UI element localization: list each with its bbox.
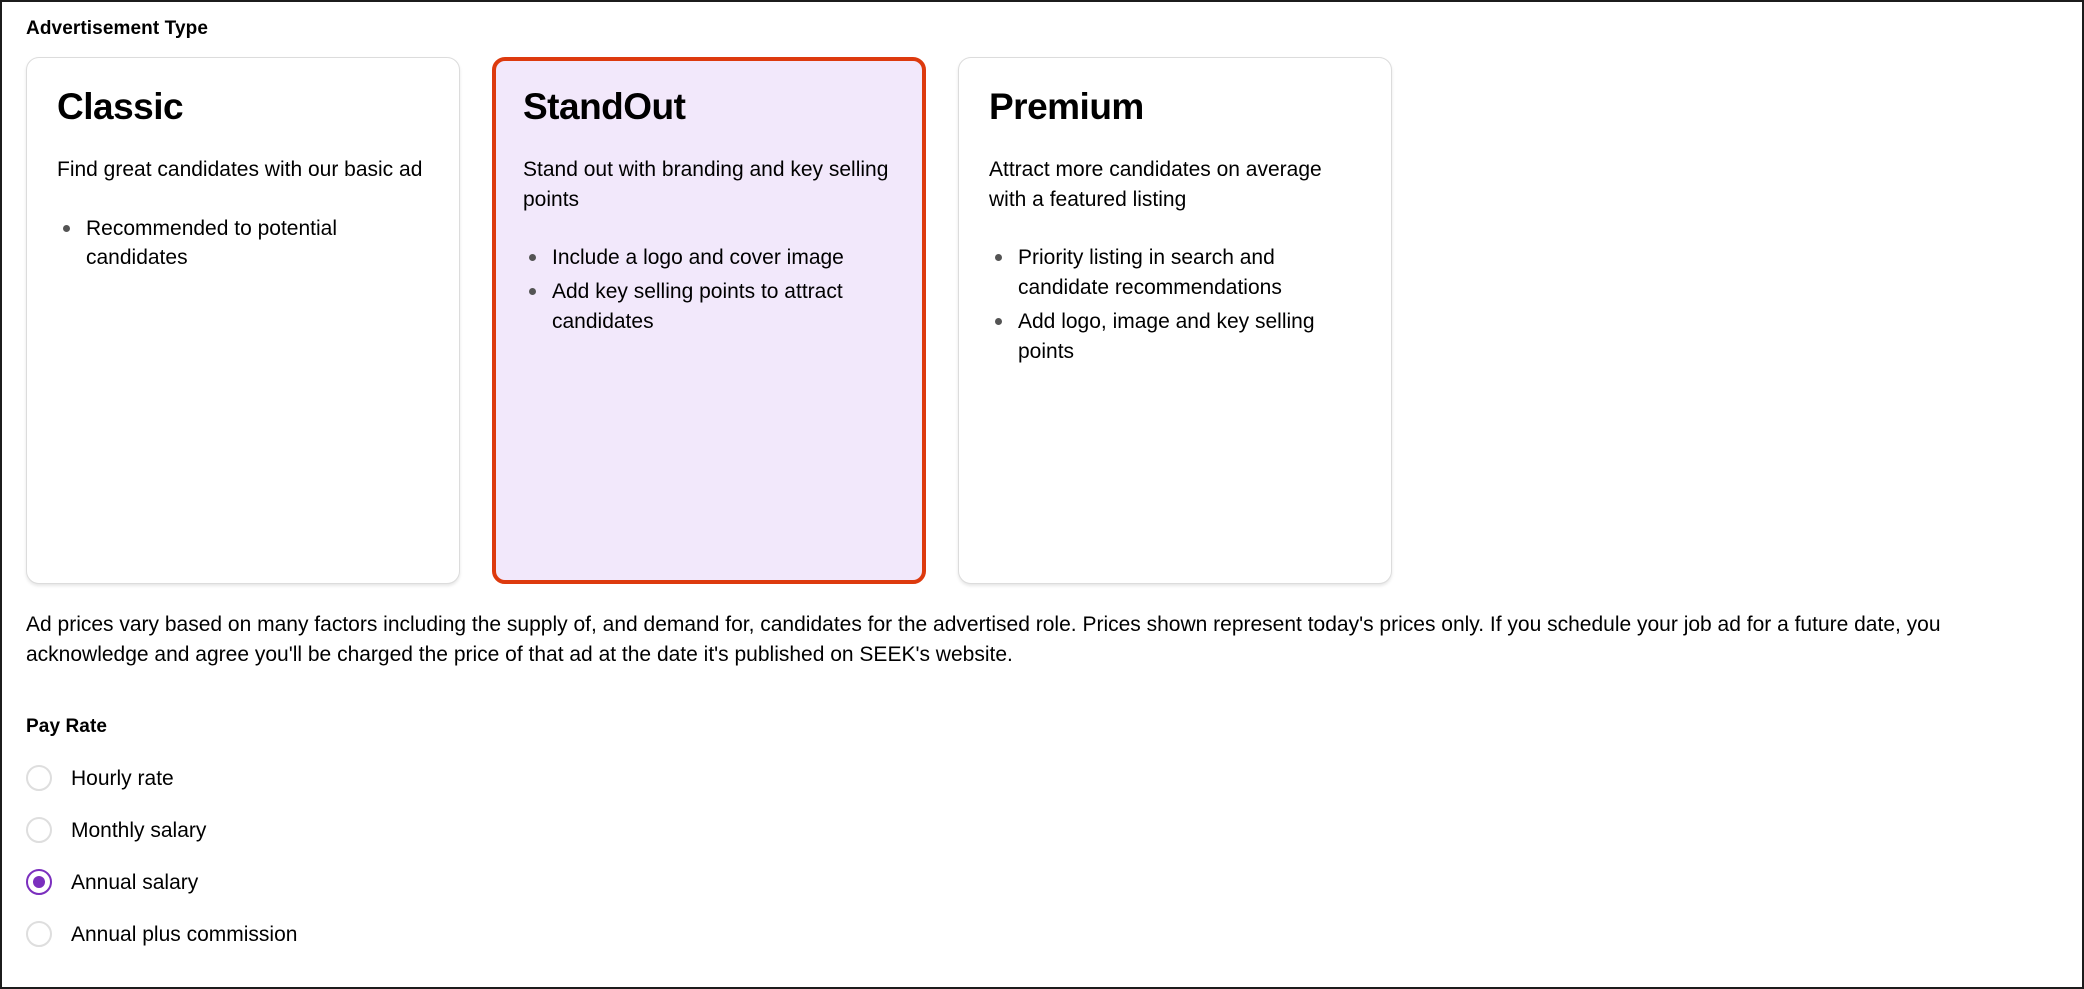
radio-label: Monthly salary — [71, 820, 206, 841]
card-title: Premium — [989, 88, 1361, 127]
pay-rate-label: Pay Rate — [26, 716, 107, 738]
radio-label: Annual plus commission — [71, 924, 297, 945]
bullet-icon — [995, 254, 1002, 261]
list-item: Priority listing in search and candidate… — [989, 243, 1361, 303]
card-description: Find great candidates with our basic ad — [57, 155, 429, 185]
card-title: Classic — [57, 88, 429, 127]
radio-button-unchecked-icon[interactable] — [26, 921, 52, 947]
radio-button-unchecked-icon[interactable] — [26, 817, 52, 843]
pay-rate-option-annual-plus-commission[interactable]: Annual plus commission — [26, 908, 626, 960]
radio-button-unchecked-icon[interactable] — [26, 765, 52, 791]
list-item-label: Priority listing in search and candidate… — [1018, 246, 1282, 299]
pay-rate-option-annual-salary[interactable]: Annual salary — [26, 856, 626, 908]
radio-label: Hourly rate — [71, 768, 174, 789]
list-item-label: Add logo, image and key selling points — [1018, 310, 1315, 363]
card-feature-list: Include a logo and cover image Add key s… — [523, 243, 895, 336]
list-item-label: Recommended to potential candidates — [86, 217, 337, 270]
bullet-icon — [529, 288, 536, 295]
list-item: Add logo, image and key selling points — [989, 307, 1361, 367]
advertisement-type-label: Advertisement Type — [26, 18, 208, 40]
radio-button-checked-icon[interactable] — [26, 869, 52, 895]
advertisement-type-form-panel: Advertisement Type Classic Find great ca… — [0, 0, 2084, 989]
bullet-icon — [529, 254, 536, 261]
list-item: Recommended to potential candidates — [57, 214, 429, 274]
card-description: Attract more candidates on average with … — [989, 155, 1361, 215]
bullet-icon — [63, 225, 70, 232]
list-item-label: Include a logo and cover image — [552, 246, 844, 269]
ad-type-card-premium[interactable]: Premium Attract more candidates on avera… — [958, 57, 1392, 584]
advertisement-type-card-group: Classic Find great candidates with our b… — [26, 57, 1396, 584]
pricing-disclaimer-text: Ad prices vary based on many factors inc… — [26, 610, 2036, 671]
bullet-icon — [995, 318, 1002, 325]
radio-label: Annual salary — [71, 872, 198, 893]
ad-type-card-standout[interactable]: StandOut Stand out with branding and key… — [492, 57, 926, 584]
card-feature-list: Priority listing in search and candidate… — [989, 243, 1361, 366]
list-item-label: Add key selling points to attract candid… — [552, 280, 843, 333]
pay-rate-option-monthly-salary[interactable]: Monthly salary — [26, 804, 626, 856]
list-item: Add key selling points to attract candid… — [523, 277, 895, 337]
list-item: Include a logo and cover image — [523, 243, 895, 273]
ad-type-card-classic[interactable]: Classic Find great candidates with our b… — [26, 57, 460, 584]
card-title: StandOut — [523, 88, 895, 127]
pay-rate-radio-group: Hourly rate Monthly salary Annual salary… — [26, 752, 626, 960]
card-feature-list: Recommended to potential candidates — [57, 214, 429, 274]
card-description: Stand out with branding and key selling … — [523, 155, 895, 215]
pay-rate-option-hourly-rate[interactable]: Hourly rate — [26, 752, 626, 804]
